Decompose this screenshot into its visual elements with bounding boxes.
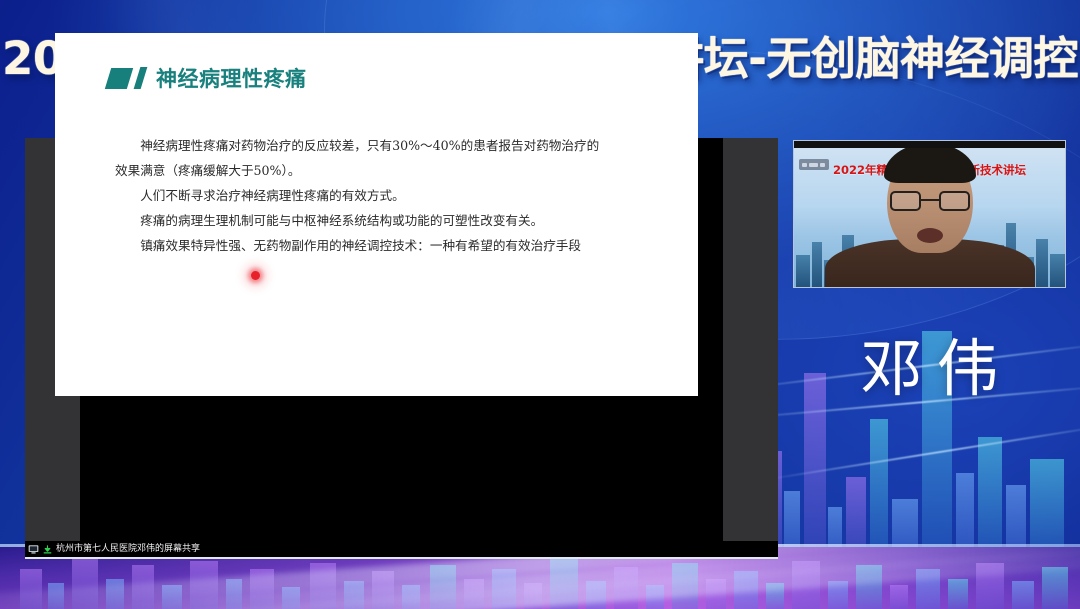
broadcast-screen: 2022年精神病学临床诊疗新技术讲坛-无创脑神经调控 神经病理性疼痛 神经病理性… (0, 0, 1080, 609)
presenter-name: 邓伟 (793, 318, 1066, 408)
video-top-strip (794, 141, 1065, 148)
slide-body-line: 镇痛效果特异性强、无药物副作用的神经调控技术：一种有希望的有效治疗手段 (115, 233, 658, 258)
slide-body: 神经病理性疼痛对药物治疗的反应较差，只有30%～40%的患者报告对药物治疗的 效… (115, 133, 658, 258)
monitor-icon (28, 544, 39, 555)
slide-body-line: 神经病理性疼痛对药物治疗的反应较差，只有30%～40%的患者报告对药物治疗的 (115, 133, 658, 158)
laser-pointer-dot (251, 271, 260, 280)
glasses-icon (890, 191, 970, 211)
slide-heading-text: 神经病理性疼痛 (156, 63, 307, 93)
slide-body-line: 人们不断寻求治疗神经病理性疼痛的有效方式。 (115, 183, 658, 208)
participant-hair (884, 148, 976, 183)
video-virtual-background: 2022年精神病学临床诊疗新技术讲坛 无创脑神经调控 2022.00.00 00… (794, 148, 1065, 287)
screen-share-status-text: 杭州市第七人民医院邓伟的屏幕共享 (56, 544, 200, 555)
heading-block-icon (105, 68, 133, 89)
screen-share-icon (42, 544, 53, 555)
presentation-slide[interactable]: 神经病理性疼痛 神经病理性疼痛对药物治疗的反应较差，只有30%～40%的患者报告… (55, 33, 698, 396)
heading-slash-icon (134, 67, 148, 89)
video-overlay-badge (799, 159, 829, 170)
slide-heading: 神经病理性疼痛 (108, 63, 307, 93)
participant-mouth (917, 228, 943, 243)
slide-body-line: 疼痛的病理生理机制可能与中枢神经系统结构或功能的可塑性改变有关。 (115, 208, 658, 233)
participant-video-tile[interactable]: 2022年精神病学临床诊疗新技术讲坛 无创脑神经调控 2022.00.00 00… (793, 140, 1066, 288)
screen-share-status-bar: 杭州市第七人民医院邓伟的屏幕共享 (25, 541, 778, 557)
status-bar-underline (25, 557, 778, 559)
slide-body-line: 效果满意（疼痛缓解大于50%）。 (115, 158, 658, 183)
